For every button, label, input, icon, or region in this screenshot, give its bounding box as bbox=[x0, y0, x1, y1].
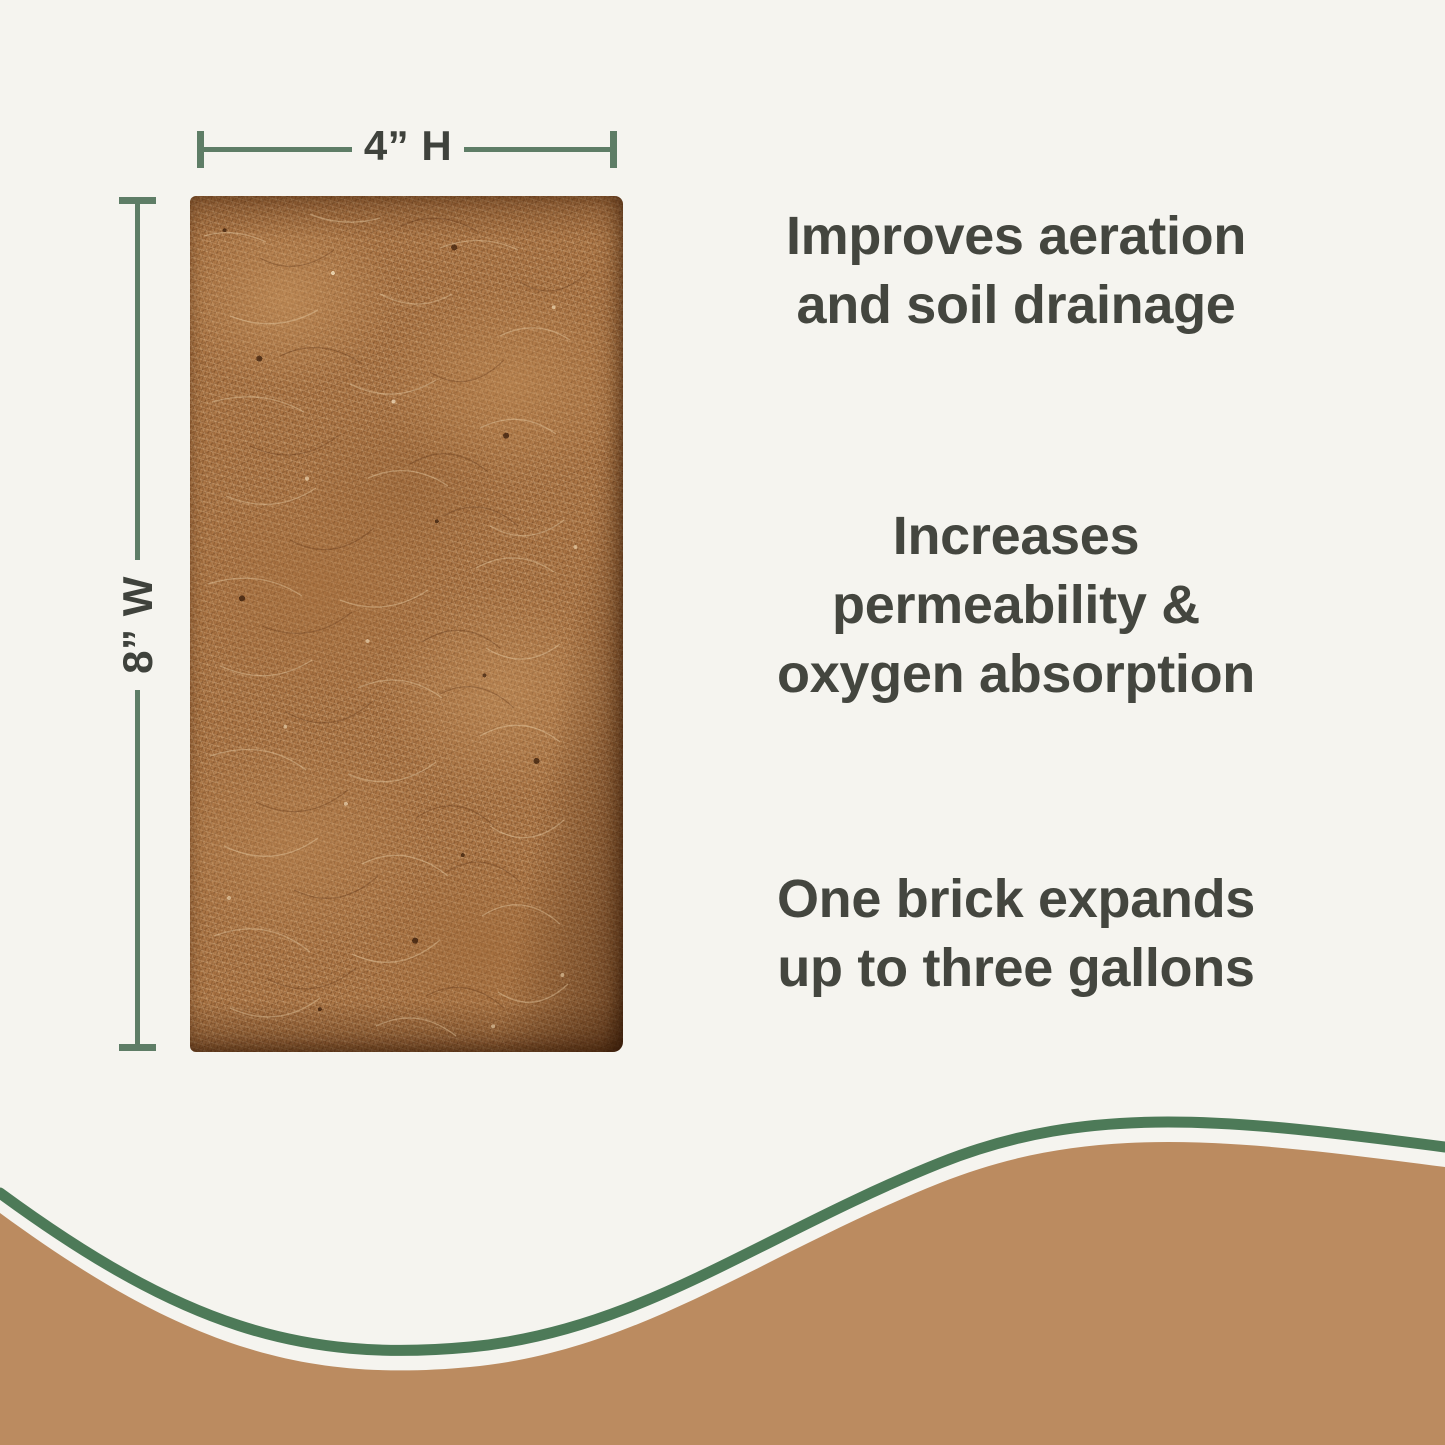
benefit-aeration-line-1: Improves aeration bbox=[716, 202, 1316, 271]
width-dimension-cap-top bbox=[119, 197, 156, 204]
benefit-expansion-line-1: One brick expands bbox=[716, 865, 1316, 934]
benefits-list: Improves aeration and soil drainage Incr… bbox=[716, 0, 1316, 1100]
height-dimension-cap-right bbox=[610, 131, 617, 168]
benefit-expansion-line-2: up to three gallons bbox=[716, 934, 1316, 1003]
benefit-permeability: Increases permeability & oxygen absorpti… bbox=[716, 502, 1316, 709]
benefit-permeability-line-2: permeability & bbox=[716, 571, 1316, 640]
infographic-canvas: 4” H 8” W bbox=[0, 0, 1445, 1445]
benefit-expansion: One brick expands up to three gallons bbox=[716, 865, 1316, 1003]
wave-tan-fill bbox=[0, 1142, 1445, 1445]
width-dimension-label: 8” W bbox=[86, 560, 190, 690]
benefit-aeration-line-2: and soil drainage bbox=[716, 271, 1316, 340]
height-dimension-label: 4” H bbox=[352, 116, 464, 176]
width-dimension-label-text: 8” W bbox=[114, 576, 162, 674]
coir-brick-fibers bbox=[190, 196, 623, 1052]
coir-brick-image bbox=[190, 196, 623, 1052]
width-dimension-cap-bottom bbox=[119, 1044, 156, 1051]
bottom-wave-decoration bbox=[0, 1115, 1445, 1445]
height-dimension-cap-left bbox=[197, 131, 204, 168]
benefit-permeability-line-3: oxygen absorption bbox=[716, 640, 1316, 709]
benefit-aeration: Improves aeration and soil drainage bbox=[716, 202, 1316, 340]
benefit-permeability-line-1: Increases bbox=[716, 502, 1316, 571]
